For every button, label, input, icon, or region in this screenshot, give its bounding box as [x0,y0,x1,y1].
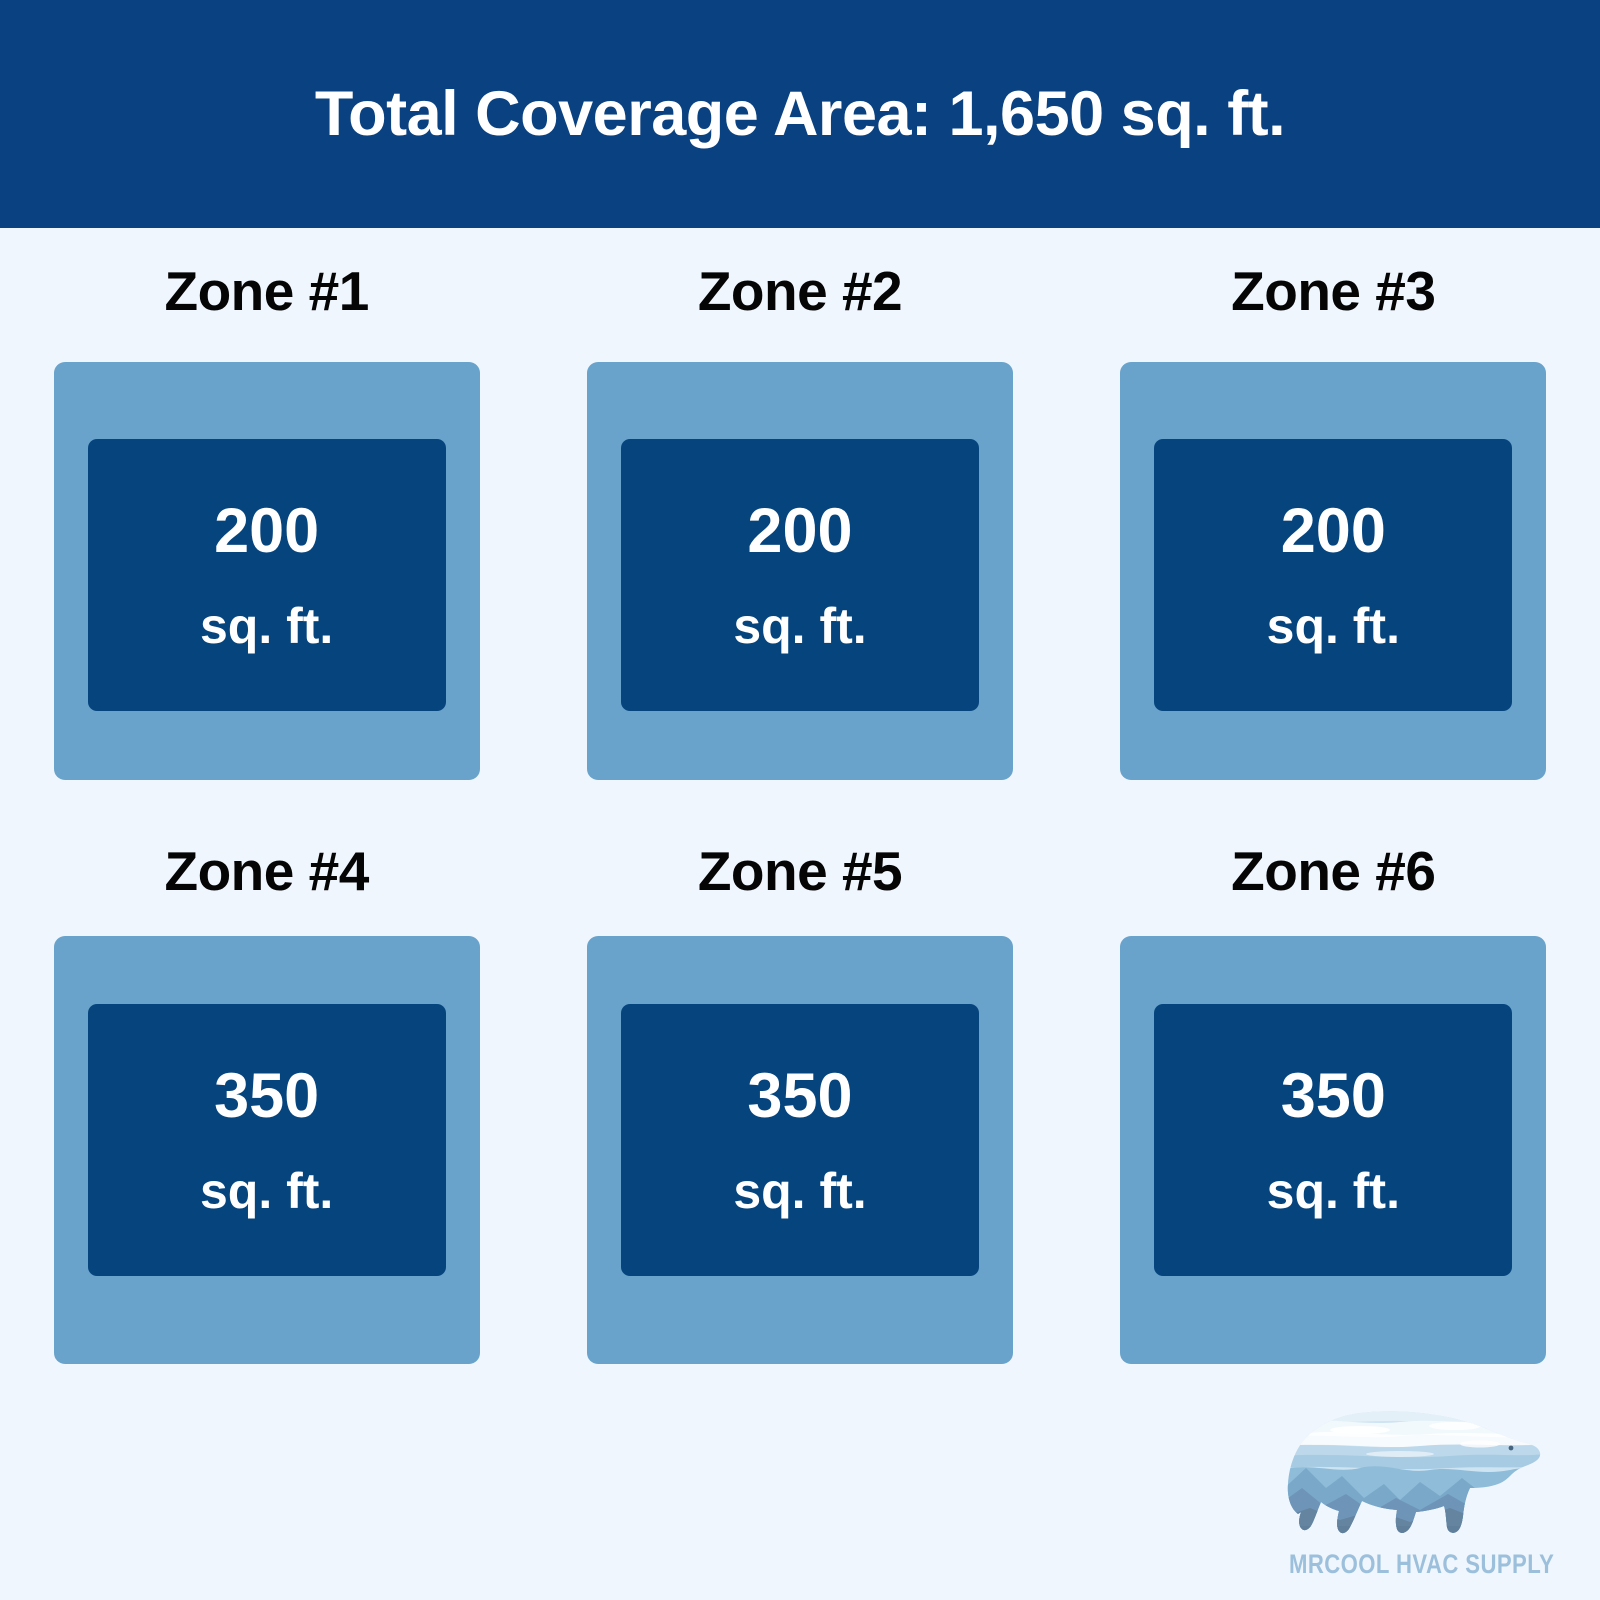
zone-unit-2: sq. ft. [733,601,866,651]
zone-label-6: Zone #6 [1231,844,1435,899]
zone-inner-box-1: 200 sq. ft. [88,439,446,711]
zone-card-3: 200 sq. ft. [1120,362,1546,780]
zone-label-2: Zone #2 [698,264,902,319]
zone-grid: Zone #1 200 sq. ft. Zone #2 200 sq. ft. … [0,228,1600,1388]
infographic-page: Total Coverage Area: 1,650 sq. ft. Zone … [0,0,1600,1600]
zone-label-4: Zone #4 [164,844,368,899]
zone-card-2: 200 sq. ft. [587,362,1013,780]
zone-cell-3: Zone #3 200 sq. ft. [1067,228,1600,808]
zone-inner-box-5: 350 sq. ft. [621,1004,979,1276]
zone-label-1: Zone #1 [164,264,368,319]
zone-card-4: 350 sq. ft. [54,936,480,1364]
zone-label-5: Zone #5 [698,844,902,899]
zone-unit-6: sq. ft. [1267,1166,1400,1216]
zone-inner-box-2: 200 sq. ft. [621,439,979,711]
zone-card-5: 350 sq. ft. [587,936,1013,1364]
zone-inner-box-6: 350 sq. ft. [1154,1004,1512,1276]
zone-card-1: 200 sq. ft. [54,362,480,780]
brand-logo-text: MRCOOL HVAC SUPPLY [1289,1549,1535,1580]
zone-cell-2: Zone #2 200 sq. ft. [533,228,1066,808]
zone-value-2: 200 [747,500,852,563]
zone-unit-1: sq. ft. [200,601,333,651]
zone-value-3: 200 [1281,500,1386,563]
zone-cell-4: Zone #4 350 sq. ft. [0,808,533,1388]
zone-inner-box-4: 350 sq. ft. [88,1004,446,1276]
zone-unit-3: sq. ft. [1267,601,1400,651]
zone-value-4: 350 [214,1065,319,1128]
zone-card-6: 350 sq. ft. [1120,936,1546,1364]
zone-cell-1: Zone #1 200 sq. ft. [0,228,533,808]
zone-inner-box-3: 200 sq. ft. [1154,439,1512,711]
zone-cell-5: Zone #5 350 sq. ft. [533,808,1066,1388]
zone-label-3: Zone #3 [1231,264,1435,319]
zone-unit-4: sq. ft. [200,1166,333,1216]
brand-logo: MRCOOL HVAC SUPPLY [1262,1396,1562,1586]
header-band: Total Coverage Area: 1,650 sq. ft. [0,0,1600,228]
polar-bear-icon [1280,1396,1545,1536]
zone-value-6: 350 [1281,1065,1386,1128]
zone-cell-6: Zone #6 350 sq. ft. [1067,808,1600,1388]
page-title: Total Coverage Area: 1,650 sq. ft. [315,83,1285,146]
zone-value-1: 200 [214,500,319,563]
zone-unit-5: sq. ft. [733,1166,866,1216]
zone-value-5: 350 [747,1065,852,1128]
